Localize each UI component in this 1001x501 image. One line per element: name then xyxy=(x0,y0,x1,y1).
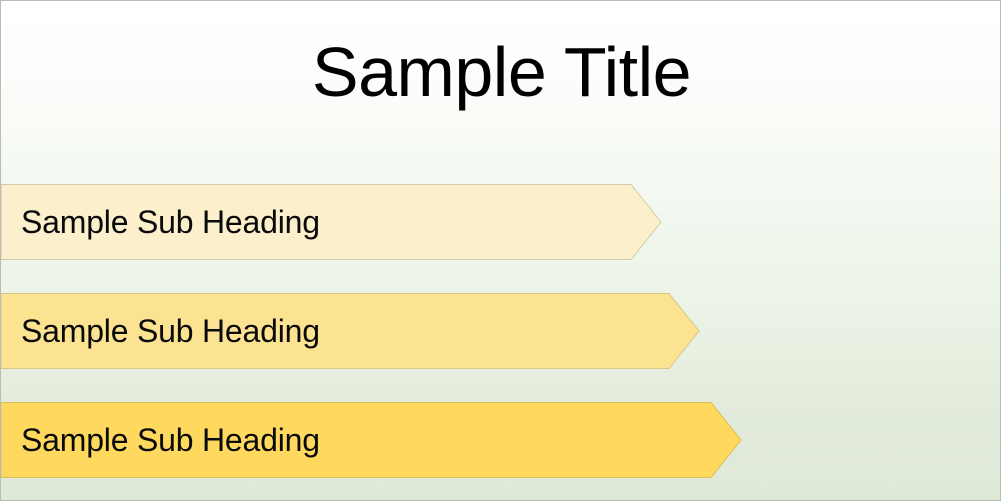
sub-heading-band-3[interactable]: Sample Sub Heading xyxy=(1,402,743,478)
sub-heading-label-2: Sample Sub Heading xyxy=(21,293,320,369)
page-title: Sample Title xyxy=(312,37,691,108)
slide-canvas: Sample Title Sample Sub Heading Sample S… xyxy=(0,0,1001,501)
sub-heading-label-3: Sample Sub Heading xyxy=(21,402,320,478)
sub-heading-band-2[interactable]: Sample Sub Heading xyxy=(1,293,701,369)
sub-heading-band-1[interactable]: Sample Sub Heading xyxy=(1,184,663,260)
sub-heading-label-1: Sample Sub Heading xyxy=(21,184,320,260)
slide-title-block: Sample Title xyxy=(1,37,1001,108)
